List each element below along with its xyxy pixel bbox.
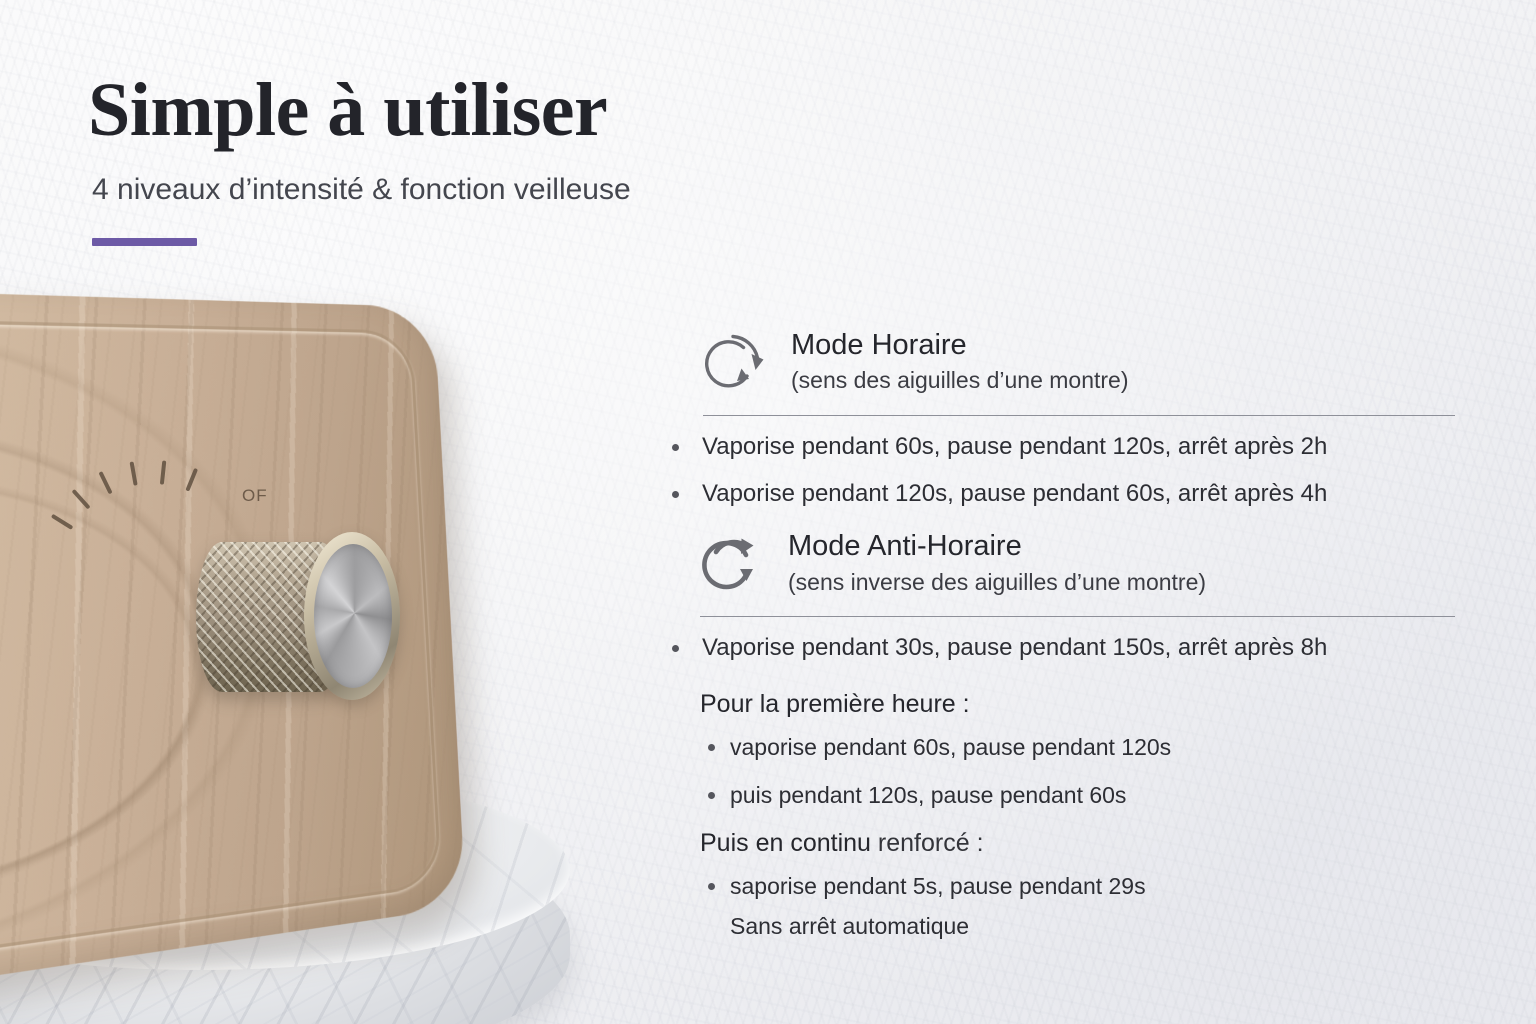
mode-header: Mode Horaire (sens des aiguilles d’une m…	[655, 330, 1455, 398]
continuous-section: Puis en continu renforcé : saporise pend…	[655, 829, 1455, 942]
mode-block-horaire: Mode Horaire (sens des aiguilles d’une m…	[655, 330, 1455, 509]
page-subtitle: 4 niveaux d’intensité & fonction veilleu…	[92, 172, 631, 208]
header: Simple à utiliser 4 niveaux d’intensité …	[88, 72, 631, 246]
knob-bezel-ring	[304, 532, 400, 700]
wood-groove	[0, 311, 442, 1005]
mode-title: Mode Anti-Horaire	[788, 531, 1206, 562]
spec-panel: Mode Horaire (sens des aiguilles d’une m…	[655, 330, 1455, 942]
knob-brushed-face	[314, 544, 392, 688]
list-item: puis pendant 120s, pause pendant 60s	[700, 781, 1455, 811]
wood-surface	[0, 279, 466, 1024]
first-hour-list: vaporise pendant 60s, pause pendant 120s…	[700, 733, 1455, 811]
section-divider	[703, 415, 1455, 416]
marble-plinth-side	[0, 820, 570, 1024]
first-hour-title: Pour la première heure :	[700, 690, 1455, 719]
counterclockwise-rotation-icon	[700, 533, 766, 599]
continuous-title-strong: Puis en continu	[700, 829, 871, 857]
list-item: Vaporise pendant 30s, pause pendant 150s…	[655, 633, 1455, 664]
mode-subtitle: (sens inverse des aiguilles d’une montre…	[788, 567, 1206, 598]
continuous-note: Sans arrêt automatique	[700, 912, 1455, 942]
accent-rule	[92, 238, 197, 246]
mode-spec-list: Vaporise pendant 30s, pause pendant 150s…	[655, 633, 1455, 664]
wooden-board	[0, 279, 466, 1024]
section-divider	[700, 616, 1455, 617]
product-photo: OF	[0, 300, 600, 1024]
knob-knurled-barrel	[196, 542, 346, 692]
first-hour-section: Pour la première heure : vaporise pendan…	[655, 690, 1455, 811]
mode-header: Mode Anti-Horaire (sens inverse des aigu…	[655, 531, 1455, 599]
control-knob	[196, 528, 406, 703]
mode-block-anti-horaire: Mode Anti-Horaire (sens inverse des aigu…	[655, 531, 1455, 664]
dial-off-label: OF	[242, 486, 268, 506]
list-item: Vaporise pendant 60s, pause pendant 120s…	[655, 432, 1455, 463]
list-item: Vaporise pendant 120s, pause pendant 60s…	[655, 479, 1455, 510]
continuous-title-light: renforcé :	[878, 829, 984, 857]
list-item: vaporise pendant 60s, pause pendant 120s	[700, 733, 1455, 763]
mode-title-group: Mode Horaire (sens des aiguilles d’une m…	[791, 330, 1129, 396]
continuous-list: saporise pendant 5s, pause pendant 29s	[700, 872, 1455, 902]
continuous-title: Puis en continu renforcé :	[700, 829, 1455, 858]
list-item: saporise pendant 5s, pause pendant 29s	[700, 872, 1455, 902]
mode-title-group: Mode Anti-Horaire (sens inverse des aigu…	[788, 531, 1206, 597]
page-title: Simple à utiliser	[88, 72, 631, 148]
mode-title: Mode Horaire	[791, 330, 1129, 361]
poster-canvas: Simple à utiliser 4 niveaux d’intensité …	[0, 0, 1536, 1024]
marble-plinth-top	[0, 770, 570, 970]
mode-spec-list: Vaporise pendant 60s, pause pendant 120s…	[655, 432, 1455, 509]
clockwise-rotation-icon	[703, 332, 769, 398]
dial-tick-marks	[150, 460, 151, 461]
mode-subtitle: (sens des aiguilles d’une montre)	[791, 365, 1129, 396]
